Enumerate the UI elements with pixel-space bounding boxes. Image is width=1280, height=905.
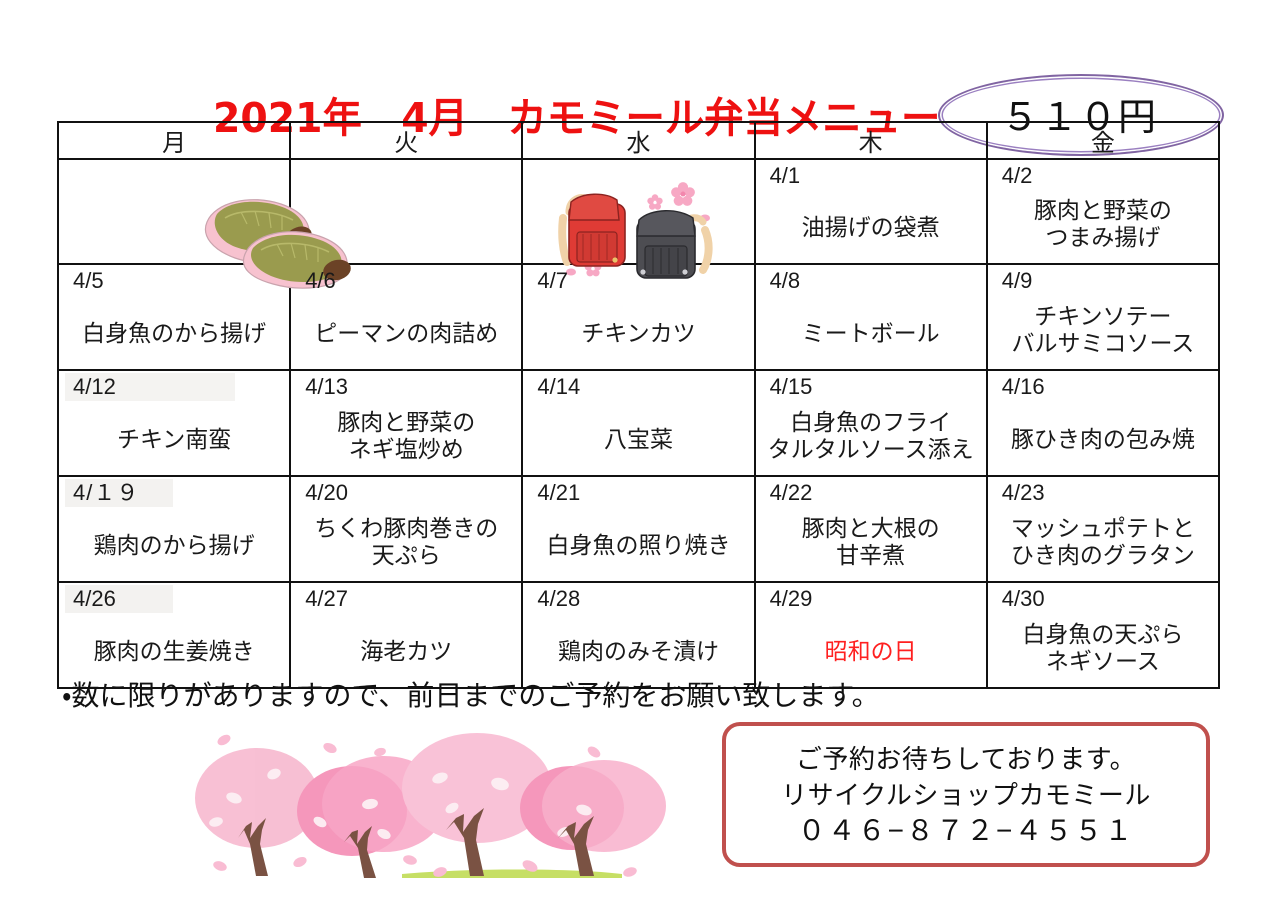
contact-box: ご予約お待ちしております。 リサイクルショップカモミール ０４６−８７２−４５５… — [722, 722, 1210, 867]
randoseru-backpacks-icon — [523, 160, 753, 263]
day-cell: 4/13 豚肉と野菜の ネギ塩炒め — [290, 370, 522, 476]
table-row: 4/12 チキン南蛮 4/13 豚肉と野菜の ネギ塩炒め 4/14 八宝菜 4/… — [58, 370, 1219, 476]
cell-dish: マッシュポテトと ひき肉のグラタン — [988, 515, 1218, 569]
cell-dish: 白身魚の天ぷら ネギソース — [988, 621, 1218, 675]
cell-dish: 鶏肉のから揚げ — [59, 532, 289, 559]
day-cell-empty-wed — [522, 159, 754, 264]
cell-date: 4/6 — [305, 268, 336, 294]
day-cell: 4/28 鶏肉のみそ漬け — [522, 582, 754, 688]
cell-date: 4/8 — [770, 268, 801, 294]
cell-dish: 豚肉と野菜の つまみ揚げ — [988, 197, 1218, 251]
column-header-wed: 水 — [522, 122, 754, 159]
day-cell: 4/１９ 鶏肉のから揚げ — [58, 476, 290, 582]
table-row: 4/１９ 鶏肉のから揚げ 4/20 ちくわ豚肉巻きの 天ぷら 4/21 白身魚の… — [58, 476, 1219, 582]
cell-date: 4/21 — [537, 480, 580, 506]
day-cell-empty-mon — [58, 159, 290, 264]
cell-dish: 白身魚の照り焼き — [523, 532, 753, 559]
contact-phone-number[interactable]: ０４６−８７２−４５５１ — [798, 813, 1135, 849]
cell-dish: 豚肉と大根の 甘辛煮 — [756, 515, 986, 569]
day-cell: 4/30 白身魚の天ぷら ネギソース — [987, 582, 1219, 688]
cell-date: 4/12 — [73, 374, 116, 400]
day-cell: 4/22 豚肉と大根の 甘辛煮 — [755, 476, 987, 582]
title-bar: 2021年 4月 カモミール弁当メニュー ５１０円 — [0, 38, 1280, 116]
cell-date: 4/5 — [73, 268, 104, 294]
sakura-mochi-icon — [59, 160, 289, 263]
cell-date: 4/1 — [770, 163, 801, 189]
contact-line-1: ご予約お待ちしております。 — [796, 741, 1136, 777]
day-cell: 4/21 白身魚の照り焼き — [522, 476, 754, 582]
day-cell: 4/20 ちくわ豚肉巻きの 天ぷら — [290, 476, 522, 582]
table-row: 4/26 豚肉の生姜焼き 4/27 海老カツ 4/28 鶏肉のみそ漬け 4/29… — [58, 582, 1219, 688]
cell-date: 4/7 — [537, 268, 568, 294]
column-header-thu: 木 — [755, 122, 987, 159]
day-cell: 4/14 八宝菜 — [522, 370, 754, 476]
day-cell-holiday: 4/29 昭和の日 — [755, 582, 987, 688]
cell-dish: チキンソテー バルサミコソース — [988, 303, 1218, 357]
sakura-trees-svg — [152, 726, 692, 886]
cell-date: 4/30 — [1002, 586, 1045, 612]
cell-dish: 豚肉の生姜焼き — [59, 638, 289, 665]
day-cell: 4/26 豚肉の生姜焼き — [58, 582, 290, 688]
cell-dish: 白身魚のから揚げ — [59, 320, 289, 347]
day-cell: 4/1 油揚げの袋煮 — [755, 159, 987, 264]
table-row: 4/5 白身魚のから揚げ 4/6 ピーマンの肉詰め 4/7 チキンカツ 4/8 … — [58, 264, 1219, 370]
day-cell: 4/2 豚肉と野菜の つまみ揚げ — [987, 159, 1219, 264]
cell-dish: 海老カツ — [291, 638, 521, 665]
cell-dish: チキンカツ — [523, 320, 753, 347]
day-cell: 4/12 チキン南蛮 — [58, 370, 290, 476]
cell-dish: ミートボール — [756, 320, 986, 347]
menu-calendar-table: 月 火 水 木 金 — [57, 121, 1220, 689]
day-cell: 4/5 白身魚のから揚げ — [58, 264, 290, 370]
cell-dish: 油揚げの袋煮 — [756, 214, 986, 241]
column-header-mon: 月 — [58, 122, 290, 159]
cell-date: 4/9 — [1002, 268, 1033, 294]
cell-dish: 八宝菜 — [523, 426, 753, 453]
cell-date: 4/13 — [305, 374, 348, 400]
cell-date: 4/16 — [1002, 374, 1045, 400]
cell-dish: チキン南蛮 — [59, 426, 289, 453]
cell-dish: 鶏肉のみそ漬け — [523, 638, 753, 665]
cell-date: 4/28 — [537, 586, 580, 612]
contact-shop-name: リサイクルショップカモミール — [781, 777, 1151, 813]
table-header-row: 月 火 水 木 金 — [58, 122, 1219, 159]
day-cell-empty-tue — [290, 159, 522, 264]
day-cell: 4/27 海老カツ — [290, 582, 522, 688]
day-cell: 4/16 豚ひき肉の包み焼 — [987, 370, 1219, 476]
cell-date: 4/１９ — [73, 480, 139, 506]
table-row: 4/1 油揚げの袋煮 4/2 豚肉と野菜の つまみ揚げ — [58, 159, 1219, 264]
reservation-note: ・数に限りがありますので、前日までのご予約をお願い致します。 — [62, 679, 880, 713]
cell-date: 4/27 — [305, 586, 348, 612]
cell-dish: 豚ひき肉の包み焼 — [988, 426, 1218, 453]
cell-dish-holiday: 昭和の日 — [756, 638, 986, 665]
day-cell: 4/15 白身魚のフライ タルタルソース添え — [755, 370, 987, 476]
cell-date: 4/26 — [73, 586, 116, 612]
cell-dish: 豚肉と野菜の ネギ塩炒め — [291, 409, 521, 463]
day-cell: 4/7 チキンカツ — [522, 264, 754, 370]
cell-date: 4/29 — [770, 586, 813, 612]
day-cell: 4/23 マッシュポテトと ひき肉のグラタン — [987, 476, 1219, 582]
column-header-fri: 金 — [987, 122, 1219, 159]
cell-date: 4/23 — [1002, 480, 1045, 506]
column-header-tue: 火 — [290, 122, 522, 159]
cell-date: 4/15 — [770, 374, 813, 400]
cell-date: 4/20 — [305, 480, 348, 506]
cell-dish: 白身魚のフライ タルタルソース添え — [756, 409, 986, 463]
cell-date: 4/14 — [537, 374, 580, 400]
sakura-trees-illustration — [152, 726, 692, 886]
menu-poster: 2021年 4月 カモミール弁当メニュー ５１０円 月 火 水 木 金 — [0, 0, 1280, 905]
day-cell: 4/9 チキンソテー バルサミコソース — [987, 264, 1219, 370]
cell-date: 4/22 — [770, 480, 813, 506]
cell-date: 4/2 — [1002, 163, 1033, 189]
cell-dish: ピーマンの肉詰め — [291, 320, 521, 347]
day-cell: 4/8 ミートボール — [755, 264, 987, 370]
day-cell: 4/6 ピーマンの肉詰め — [290, 264, 522, 370]
cell-dish: ちくわ豚肉巻きの 天ぷら — [291, 515, 521, 569]
